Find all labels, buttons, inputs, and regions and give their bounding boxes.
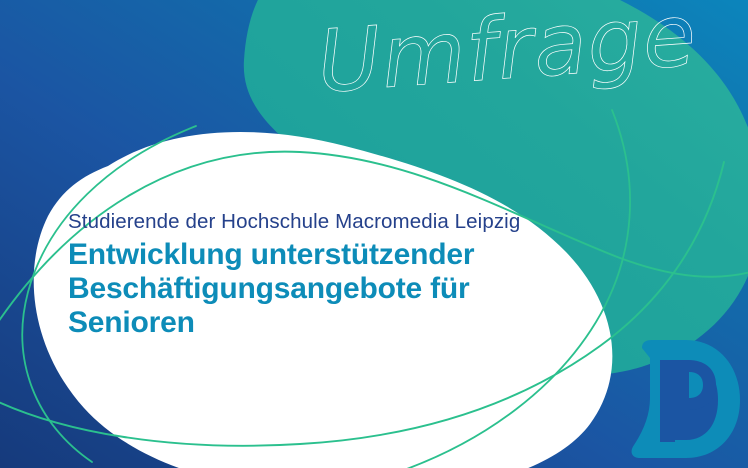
logo-p-stem	[660, 360, 675, 442]
page-title: Entwicklung unterstützender Beschäftigun…	[68, 238, 588, 340]
headline-block: Studierende der Hochschule Macromedia Le…	[68, 208, 588, 340]
survey-poster: Umfrage Studierende der Hochschule Macro…	[0, 0, 748, 468]
eyebrow-text: Studierende der Hochschule Macromedia Le…	[68, 208, 588, 236]
